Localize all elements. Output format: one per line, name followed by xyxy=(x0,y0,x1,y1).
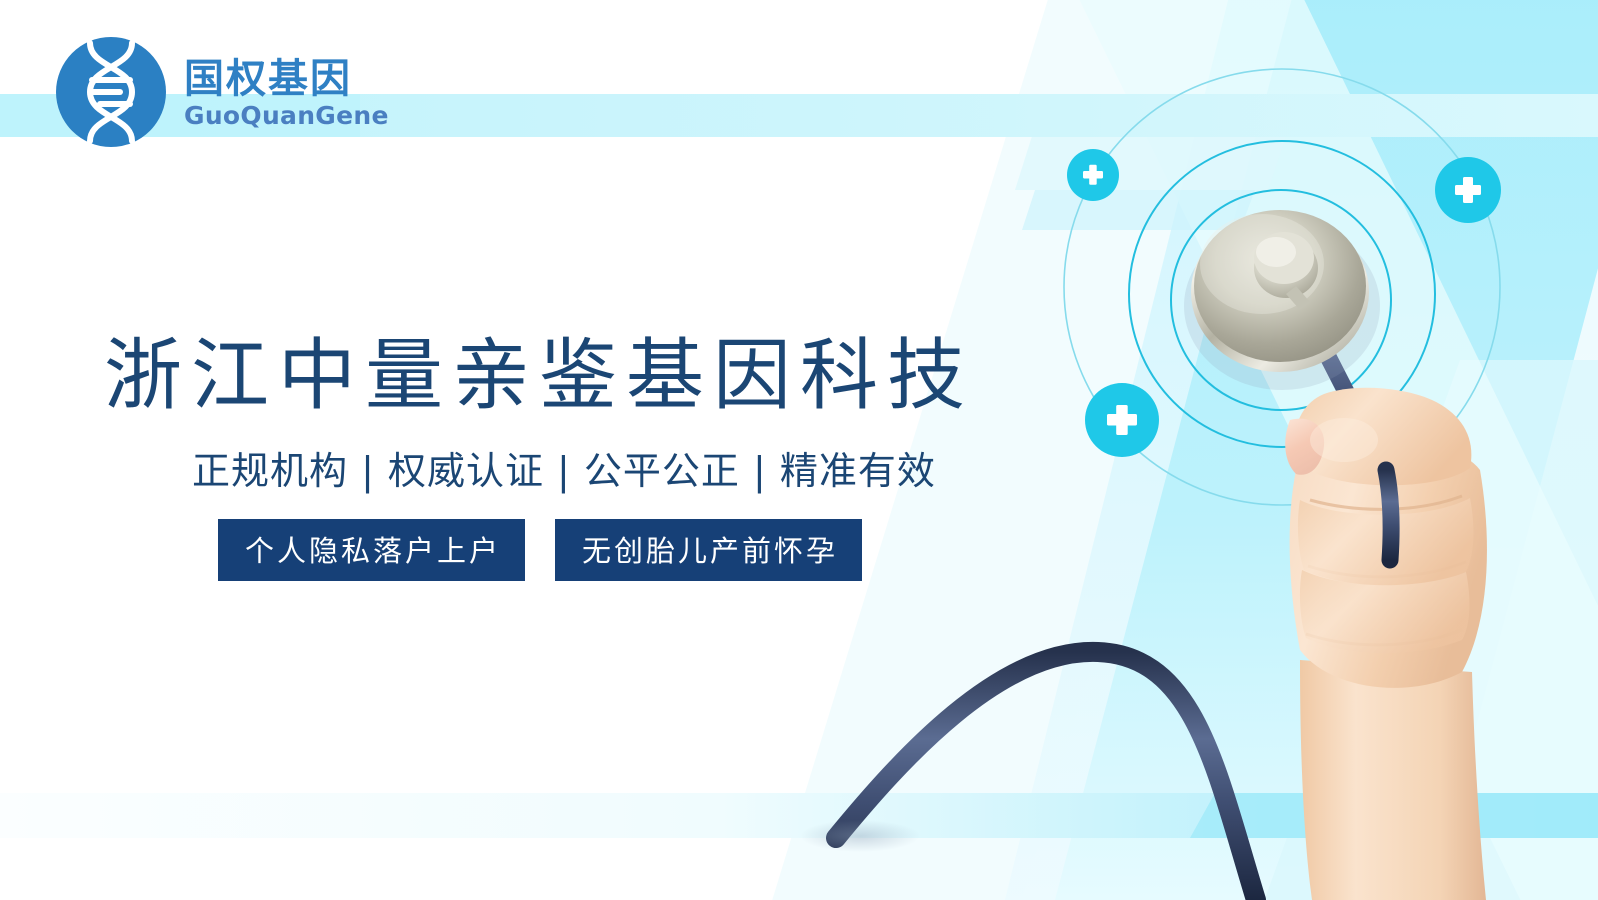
plus-badge-lower-left xyxy=(1085,383,1159,457)
plus-badge-upper-left xyxy=(1067,149,1119,201)
stethoscope-tube-over-grip xyxy=(1386,470,1391,560)
hero-badge-personal-privacy[interactable]: 个人隐私落户上户 xyxy=(218,519,525,581)
brand-name-en: GuoQuanGene xyxy=(184,102,389,130)
hero-banner: 国权基因 GuoQuanGene 浙江中量亲鉴基因科技 正规机构 | 权威认证 … xyxy=(0,0,1598,900)
hero-badge-list: 个人隐私落户上户 无创胎儿产前怀孕 xyxy=(218,519,862,581)
plus-badge-right xyxy=(1435,157,1501,223)
hero-badge-prenatal[interactable]: 无创胎儿产前怀孕 xyxy=(555,519,862,581)
hand-highlight xyxy=(1310,418,1378,462)
hand-wrist xyxy=(1300,660,1486,900)
diagonal-patch-upper-2 xyxy=(1022,190,1255,230)
dna-helix-icon xyxy=(52,33,170,151)
brand-name-cn: 国权基因 xyxy=(184,58,389,100)
page-title: 浙江中量亲鉴基因科技 xyxy=(104,337,974,415)
tube-shadow xyxy=(800,820,920,852)
hero-subtitle: 正规机构 | 权威认证 | 公平公正 | 精准有效 xyxy=(192,452,936,490)
brand-logo[interactable]: 国权基因 GuoQuanGene xyxy=(52,33,389,151)
chestpiece-knob-highlight xyxy=(1256,237,1296,267)
